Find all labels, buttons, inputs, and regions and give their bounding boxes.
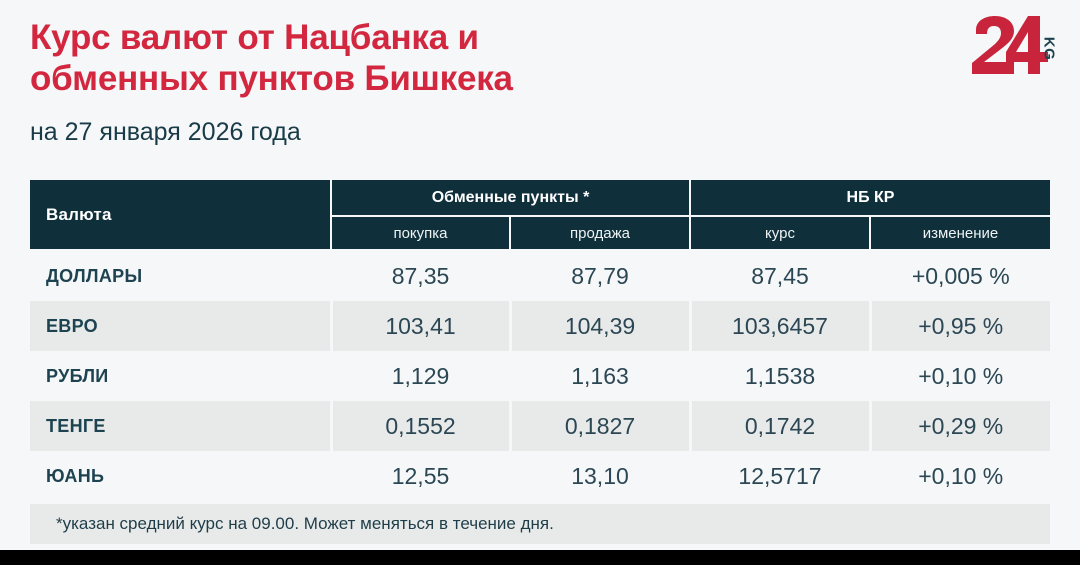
table-row: РУБЛИ 1,129 1,163 1,1538 +0,10 % — [30, 351, 1050, 401]
cell-buy: 103,41 — [331, 301, 510, 351]
cell-sell: 13,10 — [510, 451, 690, 503]
column-group-exchange-offices: Обменные пункты * — [331, 179, 690, 216]
cell-change: +0,10 % — [870, 351, 1050, 401]
column-header-sell: продажа — [510, 216, 690, 250]
cell-rate: 103,6457 — [690, 301, 870, 351]
table-header-row-groups: Валюта Обменные пункты * НБ КР — [30, 179, 1050, 216]
header: Курс валют от Нацбанка и обменных пункто… — [0, 0, 1080, 170]
cell-sell: 104,39 — [510, 301, 690, 351]
column-group-national-bank: НБ КР — [690, 179, 1050, 216]
page-title: Курс валют от Нацбанка и обменных пункто… — [30, 18, 750, 99]
cell-change: +0,005 % — [870, 250, 1050, 301]
cell-rate: 87,45 — [690, 250, 870, 301]
cell-buy: 87,35 — [331, 250, 510, 301]
table-body: ДОЛЛАРЫ 87,35 87,79 87,45 +0,005 % ЕВРО … — [30, 250, 1050, 503]
page-subtitle: на 27 января 2026 года — [30, 118, 301, 147]
table-row: ЮАНЬ 12,55 13,10 12,5717 +0,10 % — [30, 451, 1050, 503]
table-row: ТЕНГЕ 0,1552 0,1827 0,1742 +0,29 % — [30, 401, 1050, 451]
page-title-line1: Курс валют от Нацбанка и — [30, 18, 750, 59]
cell-sell: 1,163 — [510, 351, 690, 401]
currency-rates-table: Валюта Обменные пункты * НБ КР покупка п… — [30, 178, 1050, 544]
footnote-row: *указан средний курс на 09.00. Может мен… — [30, 503, 1050, 545]
cell-change: +0,29 % — [870, 401, 1050, 451]
cell-sell: 87,79 — [510, 250, 690, 301]
cell-buy: 12,55 — [331, 451, 510, 503]
cell-buy: 1,129 — [331, 351, 510, 401]
column-header-buy: покупка — [331, 216, 510, 250]
cell-currency: РУБЛИ — [30, 351, 331, 401]
cell-change: +0,95 % — [870, 301, 1050, 351]
cell-buy: 0,1552 — [331, 401, 510, 451]
column-header-change: изменение — [870, 216, 1050, 250]
cell-sell: 0,1827 — [510, 401, 690, 451]
table-header: Валюта Обменные пункты * НБ КР покупка п… — [30, 179, 1050, 250]
table-footer: *указан средний курс на 09.00. Может мен… — [30, 503, 1050, 545]
logo-24kg: KG — [970, 16, 1062, 78]
cell-currency: ДОЛЛАРЫ — [30, 250, 331, 301]
cell-change: +0,10 % — [870, 451, 1050, 503]
column-header-rate: курс — [690, 216, 870, 250]
cell-rate: 0,1742 — [690, 401, 870, 451]
table-row: ДОЛЛАРЫ 87,35 87,79 87,45 +0,005 % — [30, 250, 1050, 301]
bottom-bar — [0, 550, 1080, 565]
footnote-text: *указан средний курс на 09.00. Может мен… — [30, 503, 1050, 545]
column-header-currency: Валюта — [30, 179, 331, 250]
cell-currency: ЕВРО — [30, 301, 331, 351]
logo-kg-label: KG — [1040, 37, 1057, 61]
cell-rate: 12,5717 — [690, 451, 870, 503]
cell-currency: ЮАНЬ — [30, 451, 331, 503]
cell-currency: ТЕНГЕ — [30, 401, 331, 451]
cell-rate: 1,1538 — [690, 351, 870, 401]
table-row: ЕВРО 103,41 104,39 103,6457 +0,95 % — [30, 301, 1050, 351]
page-title-line2: обменных пунктов Бишкека — [30, 59, 750, 100]
